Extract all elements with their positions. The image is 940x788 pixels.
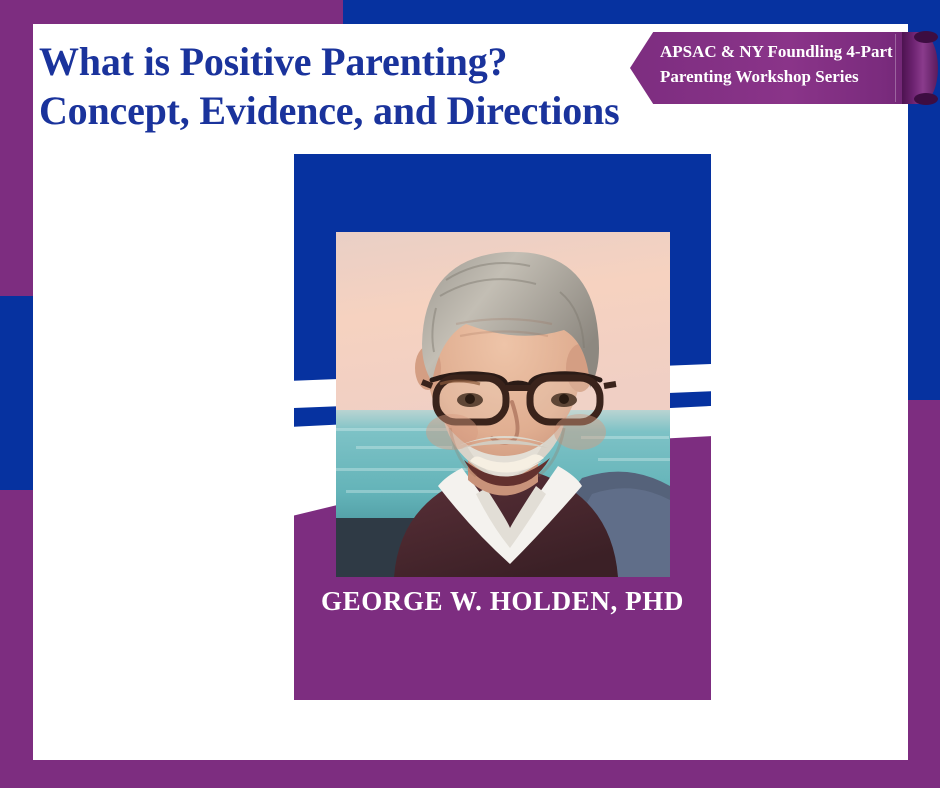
- ribbon-text: APSAC & NY Foundling 4-Part Parenting Wo…: [660, 39, 910, 89]
- presenter-photo: [336, 232, 670, 577]
- presenter-composition: GEORGE W. HOLDEN, PHD: [261, 154, 711, 702]
- frame-left-purple-lower-bar: [0, 490, 33, 788]
- flyer-canvas: What is Positive Parenting? Concept, Evi…: [0, 0, 940, 788]
- workshop-series-ribbon: APSAC & NY Foundling 4-Part Parenting Wo…: [630, 32, 940, 104]
- frame-left-blue-bar: [0, 296, 33, 490]
- frame-right-purple-bar: [908, 400, 940, 788]
- content-card: What is Positive Parenting? Concept, Evi…: [33, 24, 908, 760]
- presenter-name: GEORGE W. HOLDEN, PHD: [294, 586, 711, 617]
- frame-top-blue-bar: [343, 0, 940, 24]
- ribbon-roll-cap-bottom: [914, 93, 938, 105]
- frame-top-purple-bar: [0, 0, 343, 24]
- ribbon-roll-cap-top: [914, 31, 938, 43]
- frame-bottom-purple-bar: [0, 760, 940, 788]
- frame-left-purple-upper-bar: [0, 0, 33, 296]
- ribbon-text-line-2: Parenting Workshop Series: [660, 64, 910, 89]
- presenter-photo-illustration: [336, 232, 670, 577]
- ribbon-text-line-1: APSAC & NY Foundling 4-Part: [660, 39, 910, 64]
